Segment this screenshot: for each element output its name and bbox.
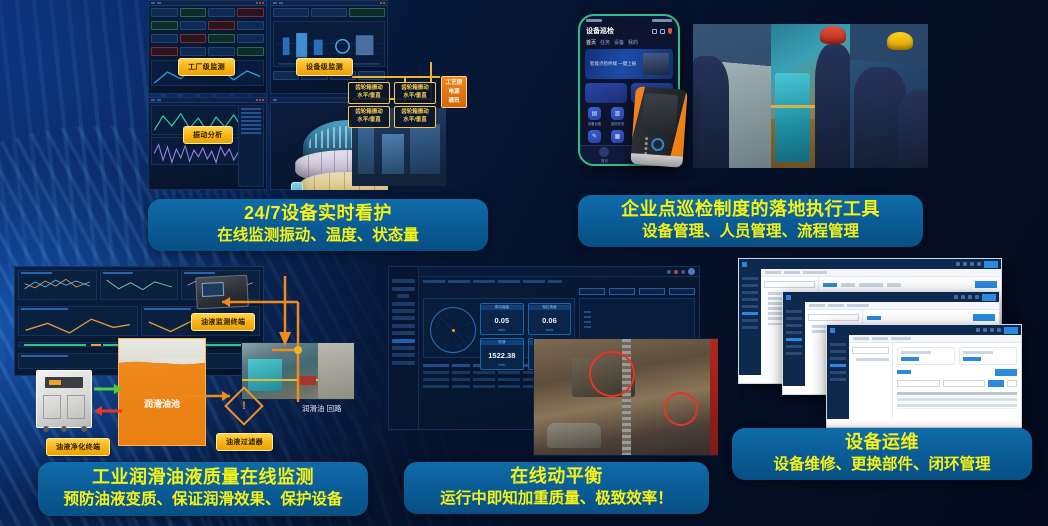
vessel-clamp-left <box>291 182 303 191</box>
chart-icon: ▦ <box>611 130 624 143</box>
help-icon[interactable] <box>956 262 960 266</box>
callout-gearbox-vibration-4[interactable]: 齿轮箱振动水平/垂直 <box>394 106 436 128</box>
badge-equipment-level-monitoring[interactable]: 设备级监测 <box>296 58 353 76</box>
label-oil-filter[interactable]: 油液过滤器 <box>216 433 273 451</box>
caption-title: 24/7设备实时看护 <box>244 203 392 225</box>
alert-icon[interactable] <box>983 328 987 332</box>
phone-tab-row[interactable]: 首页 任务 设备 我的 <box>580 39 678 49</box>
handheld-indicator-leds <box>644 137 648 155</box>
balance-sidebar[interactable] <box>389 267 419 429</box>
home-icon <box>599 147 609 157</box>
help-icon[interactable] <box>954 295 958 299</box>
bell-icon[interactable] <box>660 29 665 34</box>
balance-btn-0[interactable] <box>579 288 605 295</box>
avatar[interactable] <box>975 295 979 299</box>
label-lube-oil-circuit: 润滑油 回路 <box>302 403 342 414</box>
primary-action-button[interactable] <box>982 294 996 301</box>
caption-subtitle: 预防油液变质、保证润滑效果、保护设备 <box>63 490 342 509</box>
caption-oil-quality: 工业润滑油液质量在线监测 预防油液变质、保证润滑效果、保护设备 <box>38 462 368 516</box>
badge-vibration-analysis[interactable]: 振动分析 <box>183 126 233 144</box>
inspection-photo-2 <box>771 24 849 168</box>
dashboard-equipment-level[interactable] <box>270 0 389 94</box>
dashboard-titlebar <box>149 98 266 103</box>
process-line-1: 工艺层 <box>446 80 463 86</box>
caption-realtime-care: 24/7设备实时看护 在线监测振动、温度、状态量 <box>148 199 488 251</box>
callout-gearbox-vibration-1[interactable]: 齿轮箱振动水平/垂直 <box>348 82 390 104</box>
primary-action-button[interactable] <box>984 261 998 268</box>
panel-equipment-om <box>738 258 1048 430</box>
highlight-circle-secondary <box>664 392 698 426</box>
phone-grid-label-1: 巡检任务 <box>611 121 625 126</box>
alert-icon[interactable] <box>963 262 967 266</box>
balance-topbar <box>419 267 699 277</box>
oil-site-photo <box>241 342 355 400</box>
balance-action-buttons[interactable] <box>419 285 699 298</box>
app-logo-icon <box>742 262 747 267</box>
bell-icon[interactable] <box>968 295 972 299</box>
oil-monitor-terminal-device <box>195 275 249 310</box>
phone-grid-item-1[interactable]: ▥巡检任务 <box>607 107 628 126</box>
panel-online-dynamic-balance: 振动幅值 0.05 mm/s 相位角度 0.06 mm/s 转速 <box>388 266 718 456</box>
phone-tab-1[interactable]: 任务 <box>600 39 610 46</box>
location-pin-icon[interactable] <box>668 28 672 34</box>
inspection-photo-strip <box>693 24 928 168</box>
balance-btn-2[interactable] <box>639 288 665 295</box>
oil-tank-label: 润滑油池 <box>119 397 205 410</box>
balance-btn-1[interactable] <box>609 288 635 295</box>
phone-quick-card-0[interactable] <box>585 83 627 103</box>
avatar[interactable] <box>977 262 981 266</box>
phone-grid-label-0: 设备台账 <box>588 121 602 126</box>
phone-hero-banner[interactable]: 智能点检终端 一键上报 <box>585 49 673 79</box>
clipboard-icon: ▥ <box>611 107 624 120</box>
caption-title: 工业润滑油液质量在线监测 <box>92 467 314 489</box>
phone-tab-2[interactable]: 设备 <box>614 39 624 46</box>
phone-app-title: 设备巡检 <box>586 26 614 36</box>
table-row[interactable] <box>897 403 1017 409</box>
database-icon: ▤ <box>588 107 601 120</box>
primary-action-button[interactable] <box>1004 327 1018 334</box>
arrow-purifier-to-tank <box>94 384 122 394</box>
phone-nav-home[interactable]: 首页 <box>599 147 609 163</box>
caption-title: 企业点巡检制度的落地执行工具 <box>621 199 880 221</box>
balance-btn-3[interactable] <box>669 288 695 295</box>
process-line-3: 通讯 <box>448 98 459 104</box>
phone-hero-device-image <box>643 53 669 75</box>
phone-hero-text: 智能点检终端 一键上报 <box>590 60 636 68</box>
arrow-tank-to-purifier <box>94 406 122 416</box>
highlight-circle-primary <box>589 351 635 397</box>
caption-title: 设备运维 <box>845 432 919 454</box>
inspection-photo-3 <box>850 24 928 168</box>
oil-filter-glyph: ! <box>232 394 256 418</box>
phone-tab-3[interactable]: 我的 <box>628 39 638 46</box>
app-logo-icon <box>786 295 791 300</box>
wrench-icon: ✎ <box>588 130 601 143</box>
process-line-2: 电源 <box>448 89 459 95</box>
balance-breadcrumb[interactable] <box>419 277 699 285</box>
phone-status-bar <box>580 16 678 24</box>
callout-gearbox-vibration-2[interactable]: 齿轮箱振动水平/垂直 <box>394 82 436 104</box>
kpi-1: 相位角度 0.06 mm/s <box>528 303 572 335</box>
avatar[interactable] <box>997 328 1001 332</box>
polar-vector-plot <box>430 307 476 353</box>
inspection-photo-1 <box>693 24 771 168</box>
caption-equipment-om: 设备运维 设备维修、更换部件、闭环管理 <box>732 428 1032 480</box>
caption-subtitle: 运行中即知加重质量、极致效率！ <box>440 489 673 508</box>
caption-dynamic-balance: 在线动平衡 运行中即知加重质量、极致效率！ <box>404 462 709 514</box>
handheld-sensor-ring <box>651 138 665 152</box>
callout-process-layer[interactable]: 工艺层 电源 通讯 <box>441 76 467 108</box>
caption-inspection-tool: 企业点巡检制度的落地执行工具 设备管理、人员管理、流程管理 <box>578 195 923 247</box>
help-icon[interactable] <box>976 328 980 332</box>
caption-subtitle: 设备管理、人员管理、流程管理 <box>642 222 859 241</box>
label-oil-monitor-terminal[interactable]: 油液监测终端 <box>191 313 255 331</box>
bell-icon[interactable] <box>990 328 994 332</box>
om-window-3[interactable] <box>826 324 1022 428</box>
panel-inspection-tool: 设备巡检 首页 任务 设备 我的 智能点检终端 一键上报 <box>578 0 928 180</box>
caption-title: 在线动平衡 <box>510 466 603 488</box>
oil-purifier-unit <box>36 370 92 428</box>
handheld-screen <box>642 93 679 135</box>
search-icon[interactable] <box>652 29 657 34</box>
callout-gearbox-vibration-3[interactable]: 齿轮箱振动水平/垂直 <box>348 106 390 128</box>
caption-subtitle: 在线监测振动、温度、状态量 <box>217 226 419 245</box>
label-oil-purifier-terminal[interactable]: 油液净化终端 <box>46 438 110 456</box>
dashboard-factory-level[interactable] <box>148 0 267 94</box>
caption-subtitle: 设备维修、更换部件、闭环管理 <box>773 455 990 474</box>
alert-icon[interactable] <box>961 295 965 299</box>
handheld-inspection-device <box>630 86 687 167</box>
slide-canvas: 工厂级监测 设备级监测 振动分析 齿轮箱振动水平/垂直 齿轮箱振动水平/垂直 齿… <box>0 0 1048 526</box>
phone-grid-item-0[interactable]: ▤设备台账 <box>584 107 605 126</box>
callout-line-1 <box>352 76 440 78</box>
bell-icon[interactable] <box>970 262 974 266</box>
phone-tab-0[interactable]: 首页 <box>586 39 596 46</box>
balance-field-photo <box>533 338 718 456</box>
lubrication-oil-tank: 润滑油池 <box>118 338 206 446</box>
app-logo-icon <box>830 328 835 333</box>
phone-app-header: 设备巡检 <box>580 24 678 39</box>
kpi-2: 转速 1522.38 r/min <box>480 338 524 370</box>
kpi-0: 振动幅值 0.05 mm/s <box>480 303 524 335</box>
badge-factory-level-monitoring[interactable]: 工厂级监测 <box>178 58 235 76</box>
